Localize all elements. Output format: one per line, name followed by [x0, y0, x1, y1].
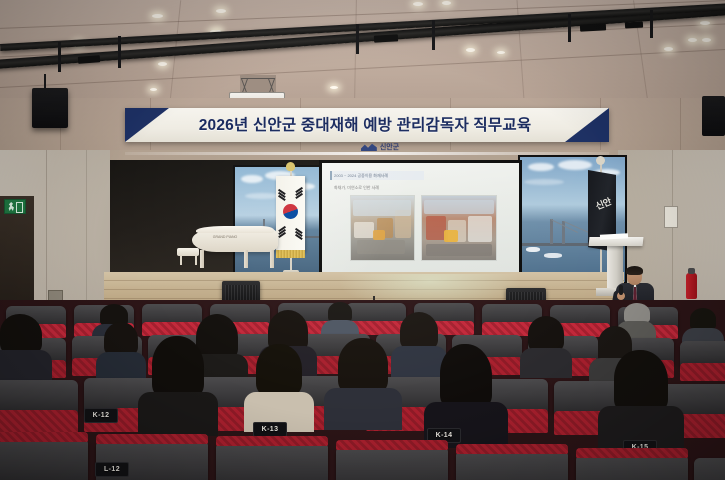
seat-cushion[interactable]	[576, 448, 688, 458]
piano-leg	[270, 250, 274, 268]
piano-leg	[244, 250, 248, 268]
downlight	[700, 21, 710, 25]
flag-finial-korea	[286, 162, 295, 171]
exit-door-icon	[16, 202, 23, 213]
microphone-icon	[619, 285, 623, 295]
downlight	[216, 9, 226, 13]
downlight	[330, 86, 338, 89]
seat-cushion[interactable]	[216, 436, 328, 446]
seat-cushion[interactable]	[142, 322, 202, 336]
piano-lid	[196, 226, 274, 233]
seat-cushion[interactable]	[456, 444, 568, 454]
seat-cushion[interactable]	[336, 440, 448, 450]
piano-leg	[200, 250, 204, 268]
truss-hanger	[118, 36, 121, 68]
truss-hanger	[432, 20, 435, 50]
downlight	[688, 38, 697, 42]
hanging-speaker-right	[702, 96, 725, 136]
seat[interactable]	[336, 446, 448, 480]
downlight	[497, 51, 505, 54]
seat-cushion[interactable]	[96, 434, 208, 444]
downlight	[664, 47, 673, 51]
truss-hanger	[568, 14, 571, 42]
banner-title: 2026년 신안군 중대재해 예방 관리감독자 직무교육	[150, 110, 580, 138]
screen-glare	[322, 163, 519, 275]
speaker-mount-left	[44, 74, 46, 90]
seat[interactable]	[0, 438, 88, 480]
taeguk-icon	[283, 204, 298, 219]
piano-brand-text: GRAND PIANO	[210, 234, 240, 239]
korean-national-flag	[276, 176, 305, 252]
flag-finial-county	[596, 156, 605, 165]
downlight	[702, 38, 711, 42]
stage-light-fixture	[374, 34, 398, 42]
wall-control-panel[interactable]	[664, 206, 678, 228]
fire-extinguisher-valve	[688, 268, 695, 274]
truss-hanger	[58, 42, 61, 72]
stage-light-fixture	[625, 22, 643, 29]
speaker-hair	[626, 266, 643, 275]
downlight	[150, 88, 157, 91]
truss-hanger	[650, 10, 653, 38]
county-logo-text: 신안군	[380, 142, 399, 152]
running-man-icon	[8, 202, 15, 211]
downlight	[442, 1, 451, 5]
county-logo-mark-icon	[361, 143, 377, 151]
stage-light-fixture	[580, 23, 606, 31]
seat-label: L-12	[95, 462, 129, 477]
fire-extinguisher	[686, 273, 697, 299]
auditorium-photo: 2026년 신안군 중대재해 예방 관리감독자 직무교육 신안군 2003 ~ …	[0, 0, 725, 480]
downlight	[466, 48, 475, 52]
seat-cushion[interactable]	[0, 432, 88, 442]
truss-hanger	[356, 24, 359, 54]
seat[interactable]	[216, 442, 328, 480]
seat[interactable]	[0, 380, 78, 414]
downlight	[413, 2, 423, 6]
exit-sign	[4, 199, 26, 214]
seat[interactable]	[694, 458, 725, 480]
downlight	[152, 14, 163, 18]
seat-label: K-13	[253, 422, 287, 437]
speaker-grille	[225, 285, 257, 301]
hanging-speaker-left	[32, 88, 68, 128]
flag-fringe-korea	[276, 250, 305, 258]
auditorium-seating: K-12 K-13 K-14 K-15 L-12	[0, 300, 725, 480]
seat-cushion[interactable]	[0, 410, 78, 434]
seat-cushion[interactable]	[680, 363, 725, 381]
downlight	[158, 62, 167, 66]
bench-leg	[195, 255, 197, 265]
bench-leg	[180, 255, 182, 265]
seat-label: K-12	[84, 408, 118, 423]
seat[interactable]	[456, 450, 568, 480]
